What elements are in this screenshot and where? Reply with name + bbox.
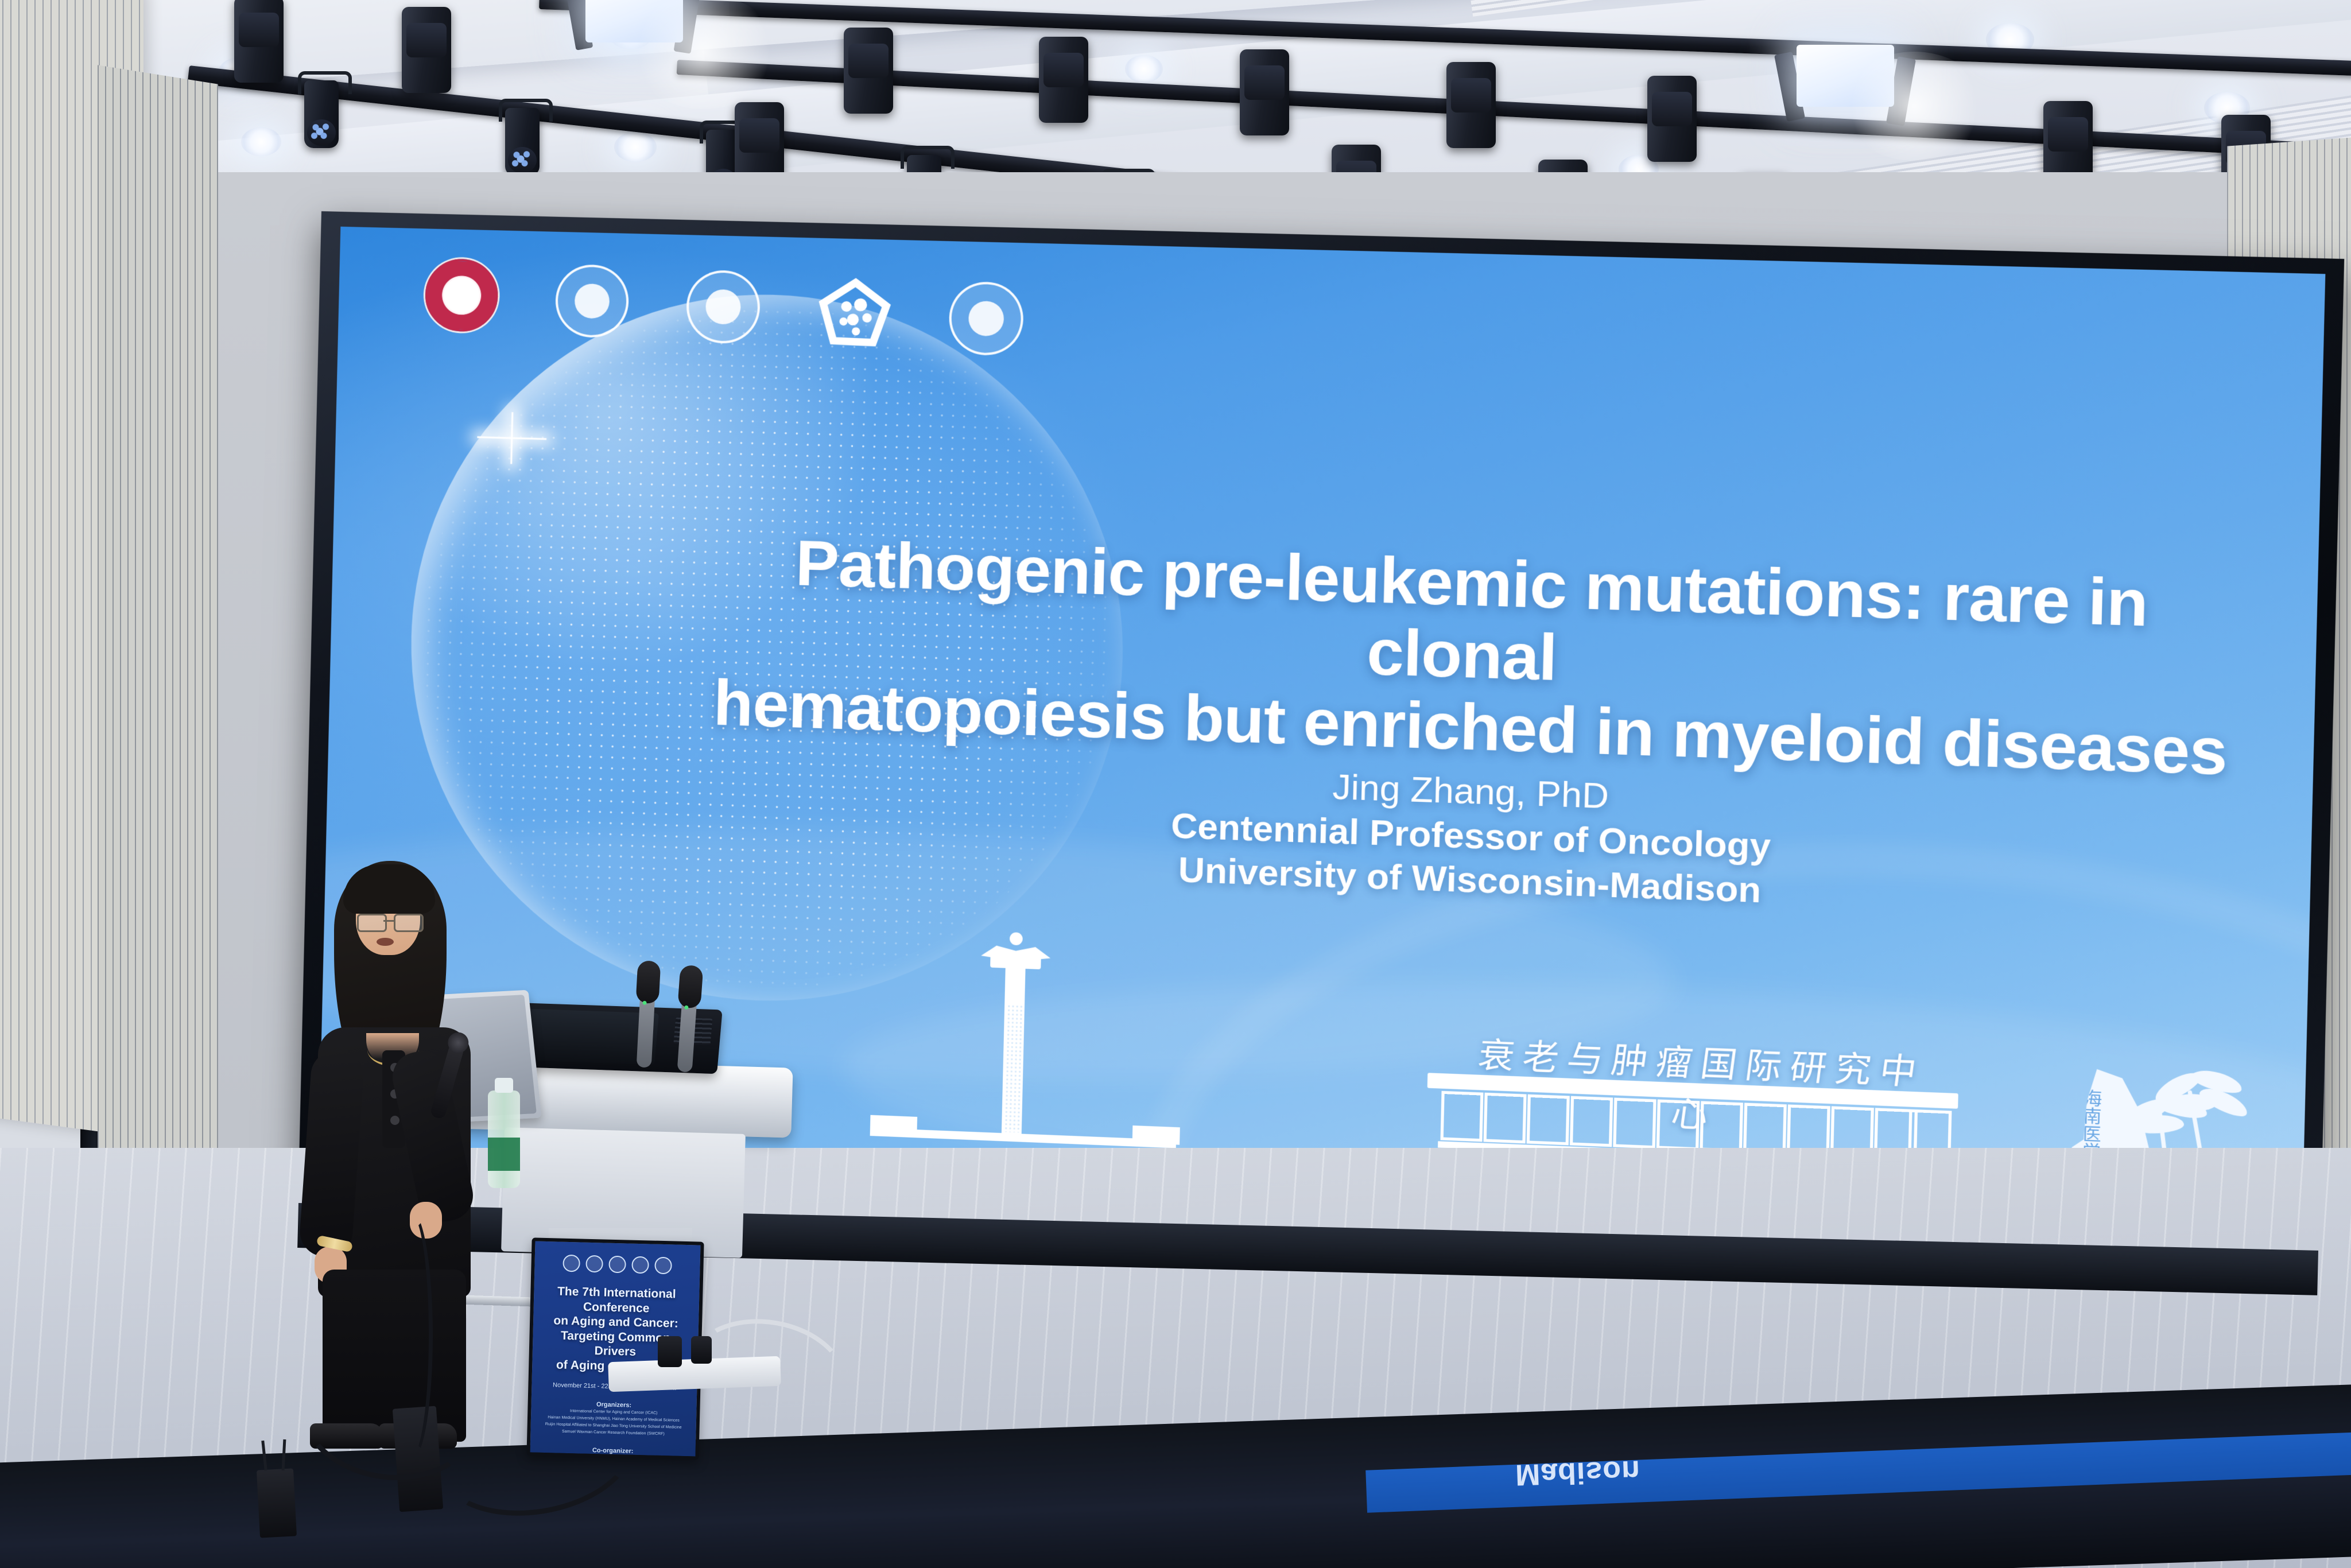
moving-head-fixture bbox=[402, 7, 451, 93]
ceiling-downlight bbox=[1125, 55, 1163, 83]
mouth bbox=[377, 938, 394, 946]
hainan-academy-medical-sciences-logo bbox=[554, 263, 630, 339]
tower-monument-graphic bbox=[975, 927, 1051, 1151]
poster-logo-hams bbox=[585, 1255, 603, 1273]
swcrf-pentagon-logo bbox=[817, 275, 893, 350]
poster-logo-ruijin bbox=[608, 1256, 626, 1274]
poster-logo-row bbox=[534, 1254, 700, 1275]
stage-photo: Pathogenic pre-leukemic mutations: rare … bbox=[0, 0, 2351, 1568]
poster-title-line-1: The 7th International Conference bbox=[540, 1284, 692, 1317]
ruijin-hospital-logo bbox=[685, 269, 761, 344]
ceiling-downlight bbox=[241, 127, 281, 156]
ceiling-downlight bbox=[614, 132, 657, 162]
moving-head-fixture bbox=[234, 0, 284, 83]
hair-fringe bbox=[343, 864, 435, 914]
icrac-logo bbox=[948, 280, 1025, 356]
power-adapter bbox=[658, 1336, 682, 1367]
led-par-fixture bbox=[505, 108, 540, 176]
left-wall-slats-secondary bbox=[98, 65, 218, 1203]
moving-head-fixture bbox=[1039, 37, 1088, 123]
moving-head-fixture bbox=[1446, 62, 1496, 148]
poster-logo-icrac bbox=[654, 1257, 672, 1275]
slide-logo-row bbox=[424, 258, 1025, 357]
floor-reflected-text: Madison bbox=[1515, 1453, 1641, 1492]
poster-logo-hmu bbox=[562, 1255, 580, 1272]
eyeglasses bbox=[357, 914, 420, 929]
poster-logo-swcrf bbox=[631, 1256, 649, 1274]
wireless-receiver-swit bbox=[257, 1468, 297, 1538]
hainan-medical-university-logo bbox=[424, 258, 499, 333]
sparkle-icon bbox=[476, 402, 548, 473]
led-par-fixture bbox=[304, 80, 339, 148]
moving-head-fixture bbox=[1240, 49, 1289, 135]
moving-head-fixture bbox=[1647, 76, 1697, 162]
floor-cable bbox=[390, 1211, 433, 1460]
button bbox=[390, 1116, 399, 1125]
moving-head-fixture bbox=[844, 28, 893, 114]
light-glow bbox=[1842, 52, 1986, 161]
